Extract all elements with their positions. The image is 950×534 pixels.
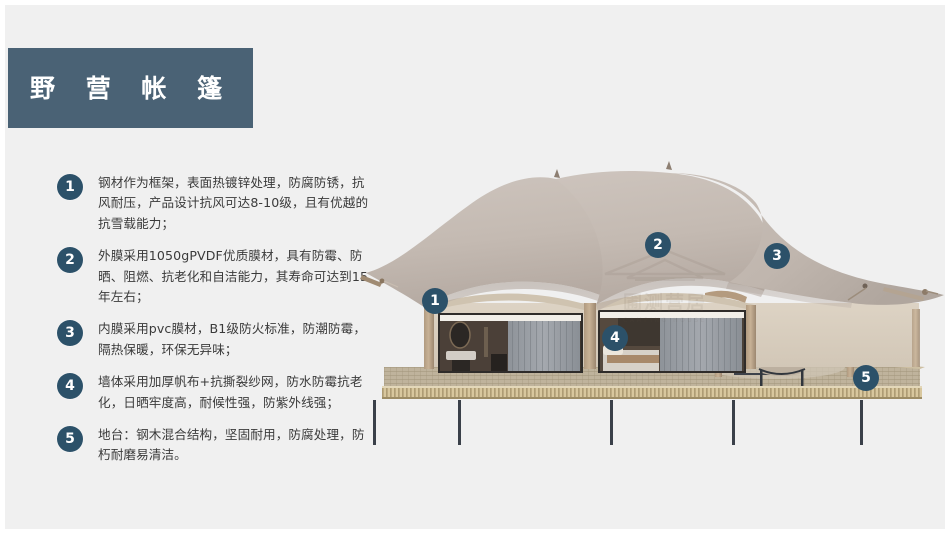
feature-list: 1 钢材作为框架，表面热镀锌处理，防腐防锈，抗风耐压，产品设计抗风可达8-10级…	[57, 173, 377, 478]
callout-badge-4[interactable]: 4	[602, 325, 628, 351]
callout-badge-2[interactable]: 2	[645, 232, 671, 258]
tent-illustration	[360, 155, 950, 445]
deck-legs	[373, 400, 863, 445]
feature-badge-5: 5	[57, 426, 83, 452]
page-title-banner: 野 营 帐 篷	[8, 48, 253, 128]
page-title: 野 营 帐 篷	[30, 76, 233, 101]
callout-badge-5[interactable]: 5	[853, 365, 879, 391]
list-item: 5 地台：钢木混合结构，坚固耐用，防腐处理，防朽耐磨易清洁。	[57, 425, 377, 466]
feature-badge-4: 4	[57, 373, 83, 399]
feature-text-5: 地台：钢木混合结构，坚固耐用，防腐处理，防朽耐磨易清洁。	[98, 425, 377, 466]
feature-text-4: 墙体采用加厚帆布+抗撕裂纱网，防水防霉抗老化，日晒牢度高，耐候性强，防紫外线强；	[98, 372, 377, 413]
feature-text-2: 外膜采用1050gPVDF优质膜材，具有防霉、防晒、阻燃、抗老化和自洁能力，其寿…	[98, 246, 377, 307]
list-item: 2 外膜采用1050gPVDF优质膜材，具有防霉、防晒、阻燃、抗老化和自洁能力，…	[57, 246, 377, 307]
feature-badge-2: 2	[57, 247, 83, 273]
list-item: 1 钢材作为框架，表面热镀锌处理，防腐防锈，抗风耐压，产品设计抗风可达8-10级…	[57, 173, 377, 234]
feature-badge-3: 3	[57, 320, 83, 346]
list-item: 4 墙体采用加厚帆布+抗撕裂纱网，防水防霉抗老化，日晒牢度高，耐候性强，防紫外线…	[57, 372, 377, 413]
window-bathroom	[438, 313, 583, 373]
slide-root: 野 营 帐 篷 1 钢材作为框架，表面热镀锌处理，防腐防锈，抗风耐压，产品设计抗…	[0, 0, 950, 534]
feature-text-3: 内膜采用pvc膜材，B1级防火标准，防潮防霉，隔热保暖，环保无异味；	[98, 319, 377, 360]
callout-badge-1[interactable]: 1	[422, 288, 448, 314]
feature-badge-1: 1	[57, 174, 83, 200]
callout-badge-3[interactable]: 3	[764, 243, 790, 269]
list-item: 3 内膜采用pvc膜材，B1级防火标准，防潮防霉，隔热保暖，环保无异味；	[57, 319, 377, 360]
feature-text-1: 钢材作为框架，表面热镀锌处理，防腐防锈，抗风耐压，产品设计抗风可达8-10级，且…	[98, 173, 377, 234]
